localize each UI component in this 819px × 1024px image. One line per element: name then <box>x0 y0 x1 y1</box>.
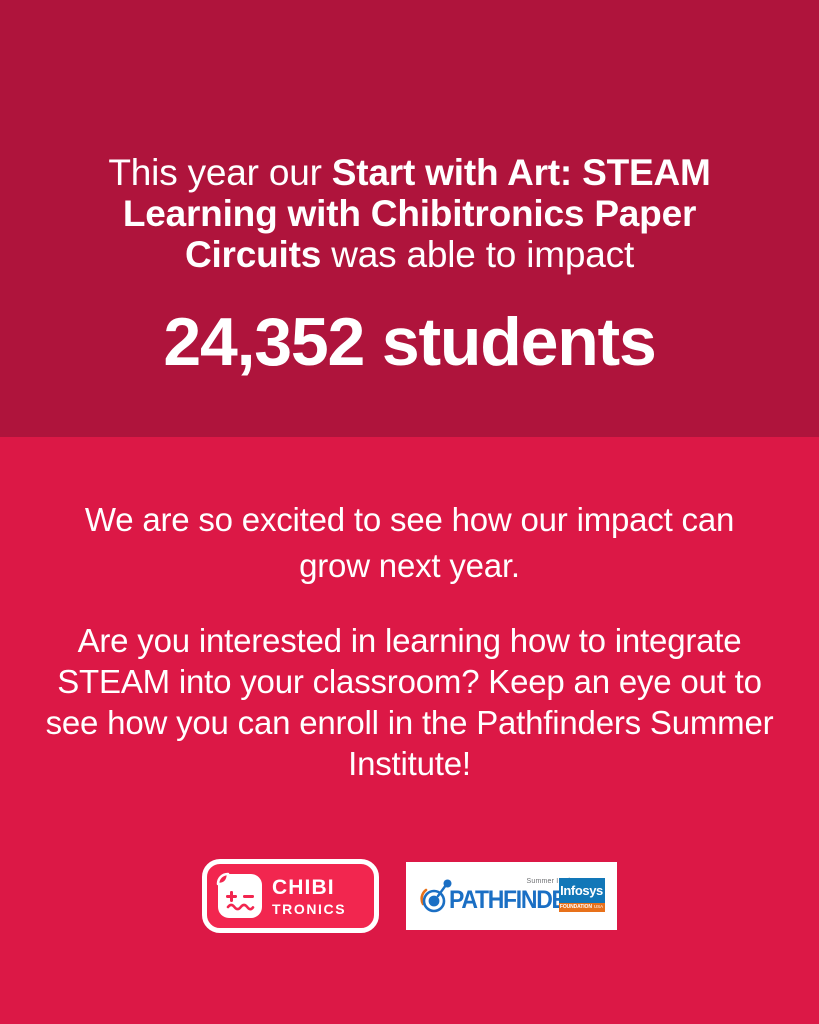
chibitronics-wordmark-line1: CHIBI <box>272 877 346 898</box>
infosys-name: Infosys <box>560 884 603 897</box>
logo-row: CHIBI TRONICS PATHFINDERS Summer Institu… <box>0 856 819 936</box>
pathfinders-logo-inner: PATHFINDERS Summer Institute Infosys FOU… <box>419 876 605 916</box>
chibitronics-logo: CHIBI TRONICS <box>202 859 379 933</box>
pathfinders-logo: PATHFINDERS Summer Institute Infosys FOU… <box>406 862 617 930</box>
infosys-foundation-strip: FOUNDATION USA <box>559 903 605 912</box>
body-paragraph-2: Are you interested in learning how to in… <box>42 620 777 784</box>
infosys-badge-box: Infosys <box>559 878 605 903</box>
body-paragraph-1: We are so excited to see how our impact … <box>55 497 764 589</box>
chibitronics-wordmark-line2: TRONICS <box>272 902 346 916</box>
headline-lead: This year our <box>108 152 331 193</box>
chibitronics-sticker-face-icon <box>215 871 265 921</box>
headline-text: This year our Start with Art: STEAM Lear… <box>95 152 724 275</box>
infosys-foundation-badge: Infosys FOUNDATION USA <box>559 878 605 912</box>
impact-number: 24,352 students <box>60 302 759 382</box>
infosys-foundation-label: FOUNDATION <box>560 905 592 910</box>
headline-trail: was able to impact <box>321 234 634 275</box>
chibitronics-wordmark: CHIBI TRONICS <box>272 877 346 916</box>
poster-canvas: This year our Start with Art: STEAM Lear… <box>0 0 819 1024</box>
infosys-usa-label: USA <box>594 905 603 910</box>
